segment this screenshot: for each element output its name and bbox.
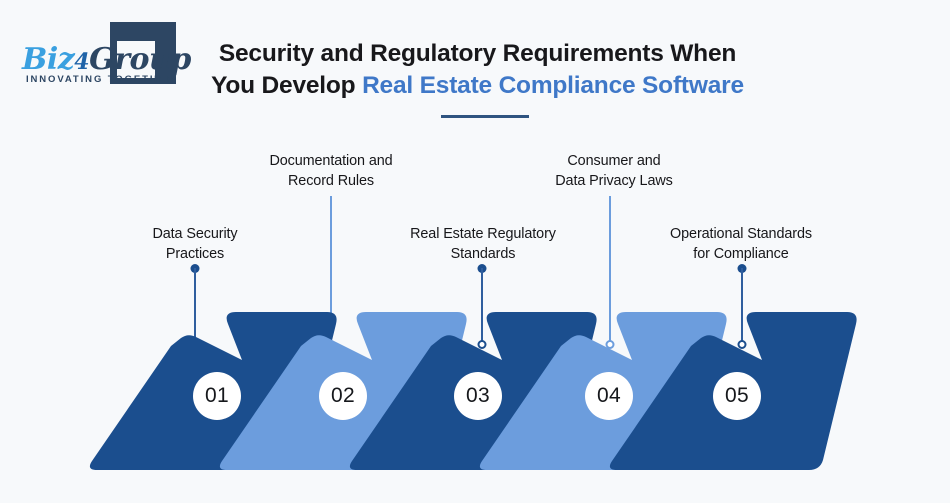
step-label-5-line2: for Compliance	[637, 244, 845, 264]
step-label-3: Real Estate Regulatory Standards	[378, 224, 588, 265]
step-number-5-text: 05	[725, 384, 749, 408]
step-label-4-line1: Consumer and	[518, 151, 710, 171]
step-number-3-text: 03	[466, 384, 490, 408]
title-underline-rule	[441, 115, 529, 118]
logo-word-biz: Biz	[22, 42, 74, 77]
title-line-2-highlight: Real Estate Compliance Software	[362, 72, 744, 99]
step-number-4-text: 04	[597, 384, 621, 408]
brand-logo: Biz4Group INNOVATING TOGETHER	[18, 22, 188, 90]
step-number-1: 01	[193, 372, 241, 420]
step-number-3: 03	[454, 372, 502, 420]
step-label-1-line1: Data Security	[115, 224, 275, 244]
page-title: Security and Regulatory Requirements Whe…	[205, 38, 750, 103]
step-label-3-line1: Real Estate Regulatory	[378, 224, 588, 244]
logo-word-four: 4	[74, 49, 89, 75]
step-number-2: 02	[319, 372, 367, 420]
step-number-5: 05	[713, 372, 761, 420]
step-label-2-line1: Documentation and	[236, 151, 426, 171]
step-label-2-line2: Record Rules	[236, 171, 426, 191]
step-label-4-line2: Data Privacy Laws	[518, 171, 710, 191]
step-number-1-text: 01	[205, 384, 229, 408]
step-label-4: Consumer and Data Privacy Laws	[518, 151, 710, 192]
step-label-5-line1: Operational Standards	[637, 224, 845, 244]
logo-word-group: Group	[89, 42, 191, 77]
step-number-4: 04	[585, 372, 633, 420]
logo-tagline: INNOVATING TOGETHER	[26, 74, 176, 85]
title-line-1: Security and Regulatory Requirements Whe…	[219, 40, 736, 67]
arrow-chevron-row: 01 02 03 04 05	[0, 300, 950, 480]
title-line-2-plain: You Develop	[211, 72, 362, 99]
step-label-2: Documentation and Record Rules	[236, 151, 426, 192]
logo-wordmark: Biz4Group	[22, 42, 191, 77]
step-label-5: Operational Standards for Compliance	[637, 224, 845, 265]
infographic-canvas: Biz4Group INNOVATING TOGETHER Security a…	[0, 0, 950, 503]
step-label-1-line2: Practices	[115, 244, 275, 264]
step-label-1: Data Security Practices	[115, 224, 275, 265]
step-label-3-line2: Standards	[378, 244, 588, 264]
step-number-2-text: 02	[331, 384, 355, 408]
